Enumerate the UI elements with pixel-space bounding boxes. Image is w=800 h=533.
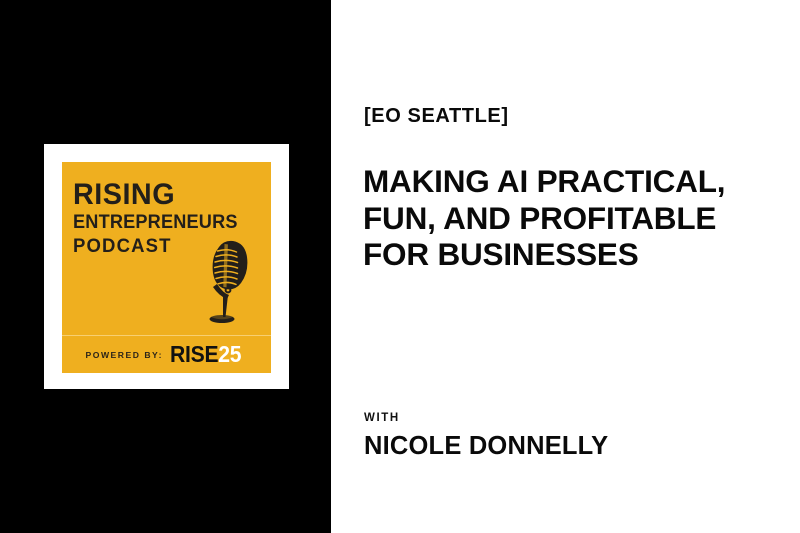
episode-title: MAKING AI PRACTICAL, FUN, AND PROFITABLE… bbox=[363, 163, 763, 273]
cover-art-footer-band: POWERED BY: RISE25 bbox=[62, 335, 271, 373]
cover-art-title-podcast: PODCAST bbox=[73, 235, 216, 257]
rise25-logo-word: RISE bbox=[170, 341, 218, 367]
left-artwork-panel: RISING ENTREPRENEURS PODCAST bbox=[0, 0, 331, 533]
powered-by-label: POWERED BY: bbox=[86, 350, 163, 360]
podcast-episode-card: RISING ENTREPRENEURS PODCAST bbox=[0, 0, 800, 533]
cover-art-title-rising: RISING bbox=[73, 180, 217, 209]
retro-microphone-icon bbox=[197, 237, 259, 325]
podcast-cover-art: RISING ENTREPRENEURS PODCAST bbox=[44, 144, 289, 389]
right-content-panel: [EO SEATTLE] MAKING AI PRACTICAL, FUN, A… bbox=[331, 0, 800, 533]
guest-block: WITH NICOLE DONNELLY bbox=[364, 412, 608, 461]
cover-art-title-entrepreneurs: ENTREPRENEURS bbox=[73, 211, 213, 233]
chapter-eyebrow: [EO SEATTLE] bbox=[364, 105, 509, 128]
cover-art-main-area: RISING ENTREPRENEURS PODCAST bbox=[62, 162, 271, 335]
guest-name: NICOLE DONNELLY bbox=[364, 432, 608, 461]
rise25-logo-number: 25 bbox=[218, 341, 241, 367]
rise25-logo: RISE25 bbox=[170, 343, 241, 366]
guest-with-label: WITH bbox=[364, 412, 608, 424]
cover-art-canvas: RISING ENTREPRENEURS PODCAST bbox=[62, 162, 271, 373]
